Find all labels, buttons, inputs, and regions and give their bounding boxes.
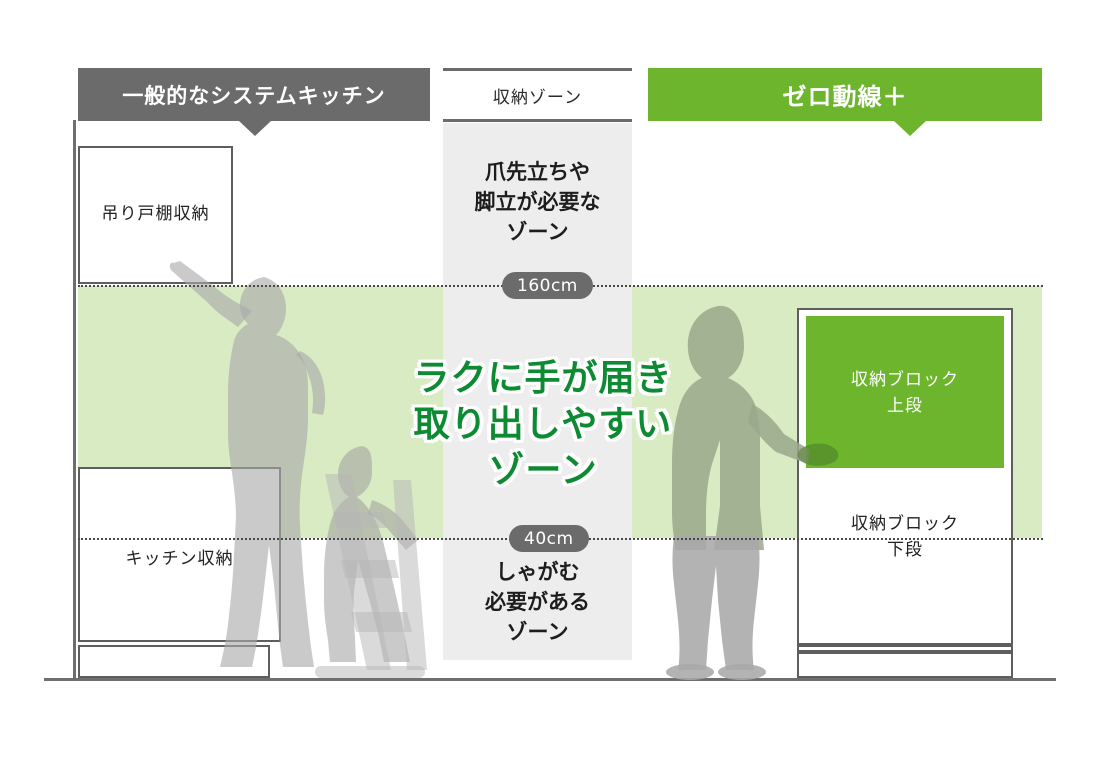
storage-block-upper-line2: 上段 — [887, 393, 923, 419]
tiptoe-zone-note-line1: 爪先立ちや — [443, 158, 632, 188]
banner-storage-zone-label: 収納ゾーン — [493, 83, 582, 108]
crouch-zone-note-line2: 必要がある — [443, 588, 632, 618]
triangle-down-icon-right — [894, 121, 926, 136]
banner-storage-zone: 収納ゾーン — [443, 68, 632, 122]
crouch-zone-note-line1: しゃがむ — [443, 558, 632, 588]
triangle-down-icon-left — [239, 121, 271, 136]
banner-standard-kitchen: 一般的なシステムキッチン — [78, 68, 430, 121]
easy-reach-headline: ラクに手が届き 取り出しやすい ゾーン — [378, 356, 708, 494]
upper-cabinet-label: 吊り戸棚収納 — [78, 196, 233, 226]
storage-block-lower-line1: 収納ブロック — [851, 511, 959, 537]
step-ladder-silhouette-icon — [285, 470, 445, 685]
storage-block-lower-line2: 下段 — [887, 537, 923, 563]
tiptoe-zone-note: 爪先立ちや 脚立が必要な ゾーン — [443, 158, 632, 247]
banner-standard-kitchen-label: 一般的なシステムキッチン — [122, 80, 385, 110]
tiptoe-zone-note-line3: ゾーン — [443, 218, 632, 248]
storage-block-upper-line1: 収納ブロック — [851, 367, 959, 393]
wall-line — [73, 120, 76, 680]
banner-zero-dousen-label: ゼロ動線＋ — [783, 77, 908, 112]
crouch-zone-note-line3: ゾーン — [443, 618, 632, 648]
diagram-canvas: 吊り戸棚収納 キッチン収納 収納ブロック 上段 収納ブロック 下段 — [0, 0, 1100, 760]
measure-badge-160: 160cm — [502, 272, 593, 299]
easy-reach-headline-line3: ゾーン — [378, 448, 708, 494]
easy-reach-headline-line1: ラクに手が届き — [378, 356, 708, 402]
crouch-zone-note: しゃがむ 必要がある ゾーン — [443, 558, 632, 647]
tiptoe-zone-note-line2: 脚立が必要な — [443, 188, 632, 218]
easy-reach-headline-line2: 取り出しやすい — [378, 402, 708, 448]
banner-zero-dousen: ゼロ動線＋ — [648, 68, 1042, 121]
floor-line — [44, 678, 1056, 681]
measure-badge-40: 40cm — [509, 525, 589, 552]
